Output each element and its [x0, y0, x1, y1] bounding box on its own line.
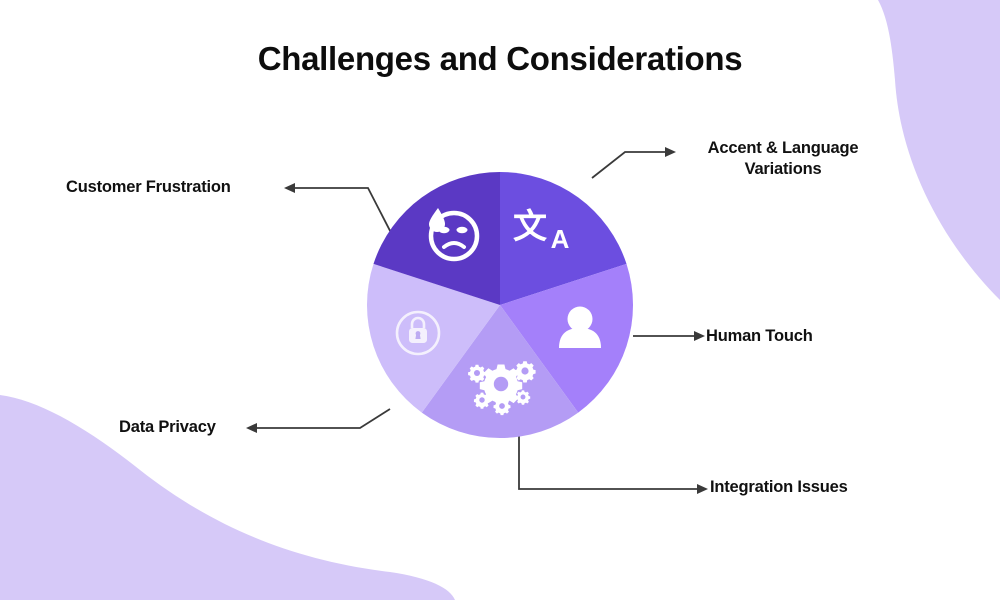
arrowhead-integration [697, 484, 708, 494]
callout-label-data-privacy: Data Privacy [119, 417, 216, 438]
arrowhead-privacy [246, 423, 257, 433]
pie-diagram: 文 A [0, 0, 1000, 600]
callout-label-accent-language: Accent & Language Variations [678, 138, 888, 180]
callout-label-customer-frustration: Customer Frustration [66, 177, 231, 198]
connector-privacy [254, 409, 390, 428]
connector-accent [592, 152, 668, 178]
arrowhead-human [694, 331, 705, 341]
callout-label-integration-issues: Integration Issues [710, 477, 848, 498]
arrowhead-accent [665, 147, 676, 157]
svg-text:A: A [551, 224, 570, 254]
connector-integration [519, 433, 700, 489]
callout-label-human-touch: Human Touch [706, 326, 813, 347]
svg-text:文: 文 [513, 207, 547, 247]
infographic-canvas: Challenges and Considerations [0, 0, 1000, 600]
arrowhead-customer [284, 183, 295, 193]
